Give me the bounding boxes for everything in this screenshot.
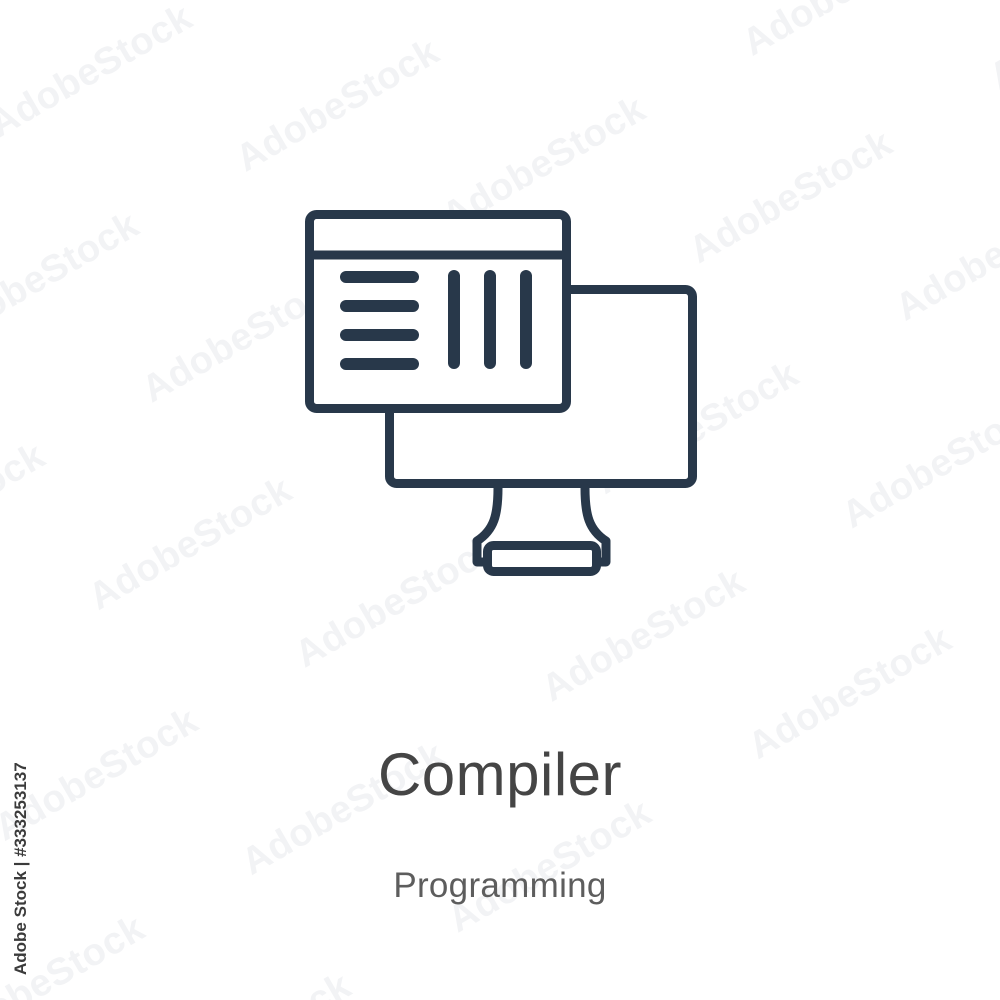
code-line-horizontal [340,300,419,312]
page-title: Compiler [0,745,1000,805]
code-window-group [310,215,567,409]
watermark-text: AdobeStock [141,965,359,1000]
stock-credit-text: Adobe Stock | #333253137 [10,760,40,975]
stock-credit: Adobe Stock | #333253137 [10,760,40,975]
code-line-vertical [484,270,496,369]
code-line-horizontal [340,329,419,341]
code-line-horizontal [340,271,419,283]
image-canvas: AdobeStock AdobeStock AdobeStock AdobeSt… [0,0,1000,1000]
compiler-icon [0,0,1000,700]
page-subtitle: Programming [0,805,1000,903]
code-line-vertical [520,270,532,369]
code-line-horizontal [340,358,419,370]
compiler-icon-svg [0,0,1000,700]
code-line-vertical [448,270,460,369]
monitor-base [488,546,597,572]
caption-block: Compiler Programming [0,745,1000,903]
